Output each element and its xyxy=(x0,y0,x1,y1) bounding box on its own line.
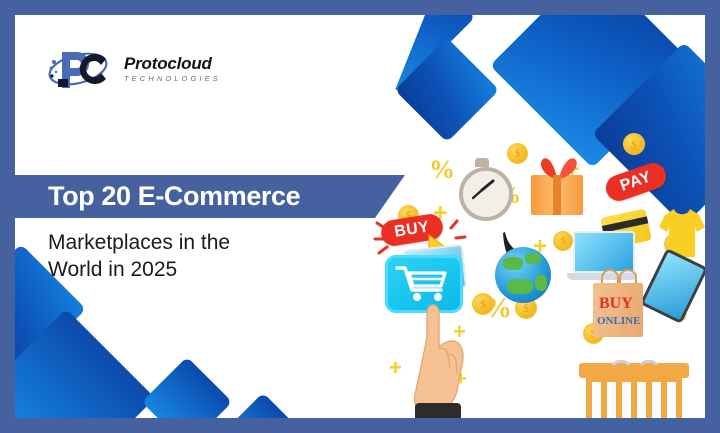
percent-symbol-icon: % xyxy=(429,155,455,185)
shopping-basket-icon xyxy=(579,363,689,418)
coin-icon: $ xyxy=(472,293,494,315)
shopping-bag-icon: BUY ONLINE xyxy=(593,283,643,337)
headline-text: Top 20 E-Commerce xyxy=(15,181,300,212)
banner-canvas: Protocloud TECHNOLOGIES Top 20 E-Commerc… xyxy=(15,15,705,418)
coin-icon: $ xyxy=(623,133,645,155)
subtitle-line-2: World in 2025 xyxy=(48,257,348,284)
logo-subtitle: TECHNOLOGIES xyxy=(124,75,221,83)
ecommerce-icon-collage: % % % % + + + + + + + + $ $ $ $ $ $ $ $ … xyxy=(367,125,705,418)
decor-diamond xyxy=(142,357,233,418)
headline-band: Top 20 E-Commerce xyxy=(15,175,375,218)
subtitle-line-1: Marketplaces in the xyxy=(48,230,348,257)
brand-logo: Protocloud TECHNOLOGIES xyxy=(48,46,221,92)
promo-banner: Protocloud TECHNOLOGIES Top 20 E-Commerc… xyxy=(0,0,720,433)
buy-badge[interactable]: BUY xyxy=(381,217,443,243)
plus-symbol-icon: + xyxy=(389,357,402,379)
logo-name: Protocloud xyxy=(124,55,221,72)
bag-text-online: ONLINE xyxy=(597,315,640,327)
pay-badge[interactable]: PAY xyxy=(605,169,667,195)
pointing-hand-icon xyxy=(409,303,467,418)
gift-box-icon xyxy=(531,175,583,215)
coin-icon: $ xyxy=(553,231,573,251)
cart-icon xyxy=(395,264,453,304)
pc-monogram-icon xyxy=(48,46,112,92)
pay-badge-label: PAY xyxy=(602,160,669,205)
globe-icon xyxy=(495,247,551,303)
decor-diamond xyxy=(221,393,306,418)
coin-icon: $ xyxy=(507,143,528,164)
bag-text-buy: BUY xyxy=(599,295,633,313)
headline-subtitle: Marketplaces in the World in 2025 xyxy=(48,230,348,283)
